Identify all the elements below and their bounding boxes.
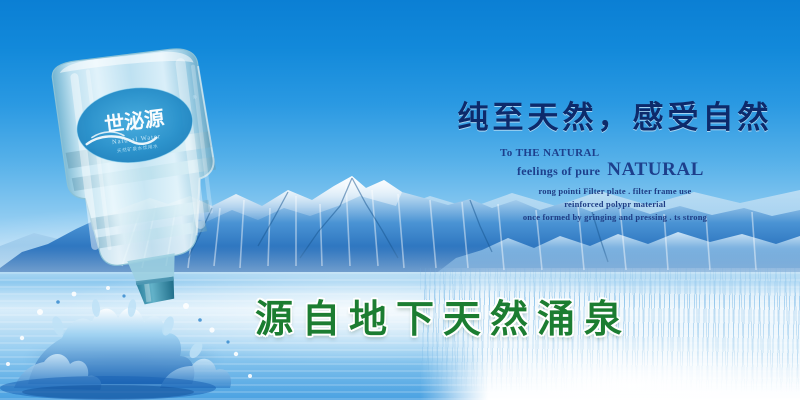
- marketing-copy-block: 纯至天然，感受自然 To THE NATURAL feelings of pur…: [455, 100, 775, 224]
- fineprint-block: rong pointi Filter plate . filter frame …: [455, 185, 775, 225]
- subheading-line-1: To THE NATURAL: [455, 147, 775, 159]
- fineprint-line-1: rong pointi Filter plate . filter frame …: [455, 185, 775, 198]
- water-bottle-product: 世泌源 Natural Water 天然矿泉水饮用水 ®: [25, 43, 240, 319]
- headline-chinese: 纯至天然，感受自然: [455, 100, 775, 136]
- subheading-line-2: feelings of pureNATURAL: [455, 159, 775, 181]
- fineprint-line-2: reinforced polypr material: [455, 198, 775, 211]
- subheading-line-2-big: NATURAL: [607, 159, 704, 180]
- fineprint-line-3: once formed by gringing and pressing . t…: [455, 211, 775, 224]
- subheading-line-2-small: feelings of pure: [517, 164, 600, 178]
- slogan-chinese: 源自地下天然涌泉: [255, 288, 695, 343]
- water-brand-banner: 世泌源 Natural Water 天然矿泉水饮用水 ® 纯至天然，感受自然 T…: [0, 0, 800, 400]
